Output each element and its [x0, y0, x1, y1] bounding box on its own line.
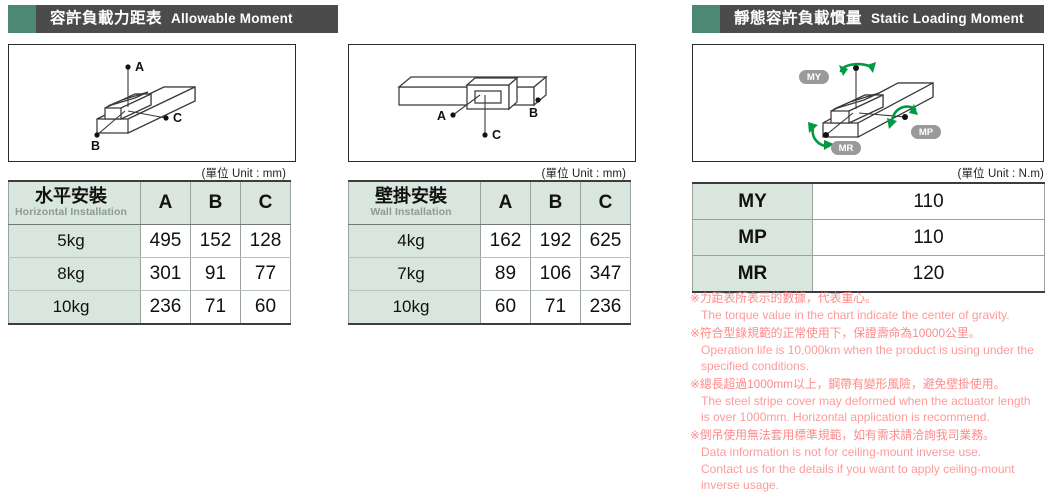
table2-row1-a: 89 [481, 258, 531, 291]
figure1-label-a: A [135, 60, 144, 74]
table2-row2-load: 10kg [349, 291, 481, 325]
note3-en-1: Contact us for the details if you want t… [690, 461, 1048, 478]
table-static-loading-moment: MY 110 MP 110 MR 120 [692, 182, 1045, 293]
table2-row1-load: 7kg [349, 258, 481, 291]
table-row: 7kg 89 106 347 [349, 258, 631, 291]
note-item: ※力距表所表示的數據，代表重心。 The torque value in the… [690, 290, 1048, 324]
note1-en-0: Operation life is 10,000km when the prod… [690, 342, 1048, 359]
section-title-cn: 容許負載力距表 [50, 11, 162, 27]
table2-row1-b: 106 [531, 258, 581, 291]
datasheet-page: 容許負載力距表 Allowable Moment A C [0, 0, 1048, 479]
moment-row2-value: 120 [813, 256, 1045, 293]
note0-cn: ※力距表所表示的數據，代表重心。 [690, 290, 1048, 307]
note3-en-2: inverse usage. [690, 477, 1048, 494]
table1-row0-a: 495 [141, 225, 191, 258]
table2-row2-c: 236 [581, 291, 631, 325]
figure-horizontal-installation: A C B [8, 44, 296, 162]
badge-mp: MP [911, 125, 941, 139]
table-row: 4kg 162 192 625 [349, 225, 631, 258]
table1-row2-a: 236 [141, 291, 191, 325]
note0-en-0: The torque value in the chart indicate t… [690, 307, 1048, 324]
diagram-horizontal-svg: A C B [9, 45, 294, 160]
figure1-label-c: C [173, 111, 182, 125]
badge-mr: MR [831, 141, 861, 155]
table1-row0-b: 152 [191, 225, 241, 258]
table-row: MR 120 [693, 256, 1045, 293]
table1-header-en: Horizontal Installation [10, 207, 132, 219]
note-item: ※符合型錄規範的正常使用下，保證壽命為10000公里。 Operation li… [690, 325, 1048, 375]
badge-my: MY [799, 70, 829, 84]
table1-row0-load: 5kg [9, 225, 141, 258]
table1-row1-load: 8kg [9, 258, 141, 291]
table2-row0-c: 625 [581, 225, 631, 258]
note1-en-1: specified conditions. [690, 358, 1048, 375]
badge-my-label: MY [807, 72, 822, 83]
note3-cn: ※倒吊使用無法套用標準規範，如有需求請洽詢我司業務。 [690, 427, 1048, 444]
moment-row0-value: 110 [813, 183, 1045, 220]
table2-row0-a: 162 [481, 225, 531, 258]
note2-en-1: is over 1000mm. Horizontal application i… [690, 409, 1048, 426]
table1-header-label: 水平安裝 Horizontal Installation [9, 181, 141, 225]
table1-header-cn: 水平安裝 [10, 187, 132, 206]
table1-col-c: C [241, 181, 291, 225]
section-accent-block [8, 5, 36, 33]
moment-row1-key: MP [693, 220, 813, 256]
notes-list: ※力距表所表示的數據，代表重心。 The torque value in the… [690, 290, 1048, 495]
moment-row2-key: MR [693, 256, 813, 293]
table-horizontal-installation: 水平安裝 Horizontal Installation A B C 5kg 4… [8, 180, 291, 325]
figure2-label-b: B [529, 106, 538, 120]
section-title-en: Allowable Moment [171, 12, 293, 26]
section-title-en-right: Static Loading Moment [871, 12, 1024, 26]
table2-header-en: Wall Installation [350, 207, 472, 219]
table2-col-b: B [531, 181, 581, 225]
note-item: ※總長超過1000mm以上，鋼帶有變形風險，避免壁掛使用。 The steel … [690, 376, 1048, 426]
table-row: 10kg 236 71 60 [9, 291, 291, 325]
section-accent-block-right [692, 5, 720, 33]
table2-row2-b: 71 [531, 291, 581, 325]
figure2-label-a: A [437, 109, 446, 123]
unit-caption-wall: (單位 Unit : mm) [436, 165, 626, 181]
section-header-static-loading-moment: 靜態容許負載慣量 Static Loading Moment [692, 5, 1044, 33]
table2-row0-b: 192 [531, 225, 581, 258]
table2-header-cn: 壁掛安裝 [350, 187, 472, 206]
diagram-moment-svg: MY MP MR [693, 45, 1042, 160]
note3-en-0: Data information is not for ceiling-moun… [690, 444, 1048, 461]
note2-en-0: The steel stripe cover may deformed when… [690, 393, 1048, 410]
diagram-wall-svg: B A C [349, 45, 634, 160]
table1-row2-load: 10kg [9, 291, 141, 325]
table-row-header: 壁掛安裝 Wall Installation A B C [349, 181, 631, 225]
badge-mp-label: MP [919, 127, 934, 138]
table-row: 8kg 301 91 77 [9, 258, 291, 291]
table1-col-b: B [191, 181, 241, 225]
table1-row2-c: 60 [241, 291, 291, 325]
note1-cn: ※符合型錄規範的正常使用下，保證壽命為10000公里。 [690, 325, 1048, 342]
table2-header-label: 壁掛安裝 Wall Installation [349, 181, 481, 225]
figure2-label-c: C [492, 128, 501, 142]
table1-row0-c: 128 [241, 225, 291, 258]
table2-row1-c: 347 [581, 258, 631, 291]
table1-col-a: A [141, 181, 191, 225]
table1-row1-c: 77 [241, 258, 291, 291]
section-title-cn-right: 靜態容許負載慣量 [734, 11, 862, 27]
table1-row2-b: 71 [191, 291, 241, 325]
section-title-bar: 容許負載力距表 Allowable Moment [36, 5, 338, 33]
table-row-header: 水平安裝 Horizontal Installation A B C [9, 181, 291, 225]
table2-col-a: A [481, 181, 531, 225]
note2-cn: ※總長超過1000mm以上，鋼帶有變形風險，避免壁掛使用。 [690, 376, 1048, 393]
table2-col-c: C [581, 181, 631, 225]
moment-row1-value: 110 [813, 220, 1045, 256]
section-title-bar-right: 靜態容許負載慣量 Static Loading Moment [720, 5, 1044, 33]
table-row: 10kg 60 71 236 [349, 291, 631, 325]
section-header-allowable-moment: 容許負載力距表 Allowable Moment [8, 5, 338, 33]
table-wall-installation: 壁掛安裝 Wall Installation A B C 4kg 162 192… [348, 180, 631, 325]
unit-caption-horizontal: (單位 Unit : mm) [96, 165, 286, 181]
unit-caption-moment: (單位 Unit : N.m) [840, 165, 1044, 181]
table1-row1-a: 301 [141, 258, 191, 291]
note-item: ※倒吊使用無法套用標準規範，如有需求請洽詢我司業務。 Data informat… [690, 427, 1048, 494]
figure1-label-b: B [91, 139, 100, 153]
table2-row0-load: 4kg [349, 225, 481, 258]
badge-mr-label: MR [839, 143, 854, 154]
table-row: MY 110 [693, 183, 1045, 220]
figure-static-loading-moment: MY MP MR [692, 44, 1044, 162]
table2-row2-a: 60 [481, 291, 531, 325]
table-row: MP 110 [693, 220, 1045, 256]
table1-row1-b: 91 [191, 258, 241, 291]
figure-wall-installation: B A C [348, 44, 636, 162]
table-row: 5kg 495 152 128 [9, 225, 291, 258]
moment-row0-key: MY [693, 183, 813, 220]
